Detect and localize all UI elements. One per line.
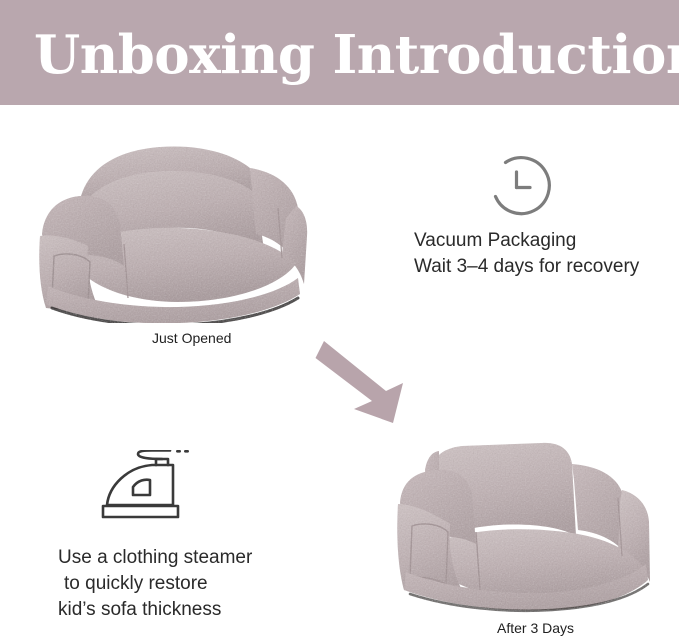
page-title: Unboxing Introduction <box>34 20 654 90</box>
clothing-iron-icon <box>100 450 205 525</box>
vacuum-note-line-2: Wait 3–4 days for recovery <box>414 254 639 280</box>
unboxing-introduction-infographic: Unboxing Introduction <box>0 0 679 643</box>
caption-after-3-days: After 3 Days <box>497 620 574 636</box>
vacuum-note-line-1: Vacuum Packaging <box>414 228 639 254</box>
steamer-note-line-1: Use a clothing steamer <box>58 545 252 571</box>
caption-just-opened: Just Opened <box>152 330 231 346</box>
clock-icon <box>483 152 553 222</box>
steamer-instruction-note: Use a clothing steamer to quickly restor… <box>58 545 252 623</box>
vacuum-packaging-note: Vacuum Packaging Wait 3–4 days for recov… <box>414 228 639 280</box>
steamer-note-line-2: to quickly restore <box>58 571 252 597</box>
sofa-expanded-illustration <box>392 440 672 615</box>
arrow-down-right-icon <box>315 335 415 430</box>
header-banner: Unboxing Introduction <box>0 0 679 105</box>
sofa-compressed-illustration <box>28 138 318 323</box>
steamer-note-line-3: kid’s sofa thickness <box>58 597 252 623</box>
